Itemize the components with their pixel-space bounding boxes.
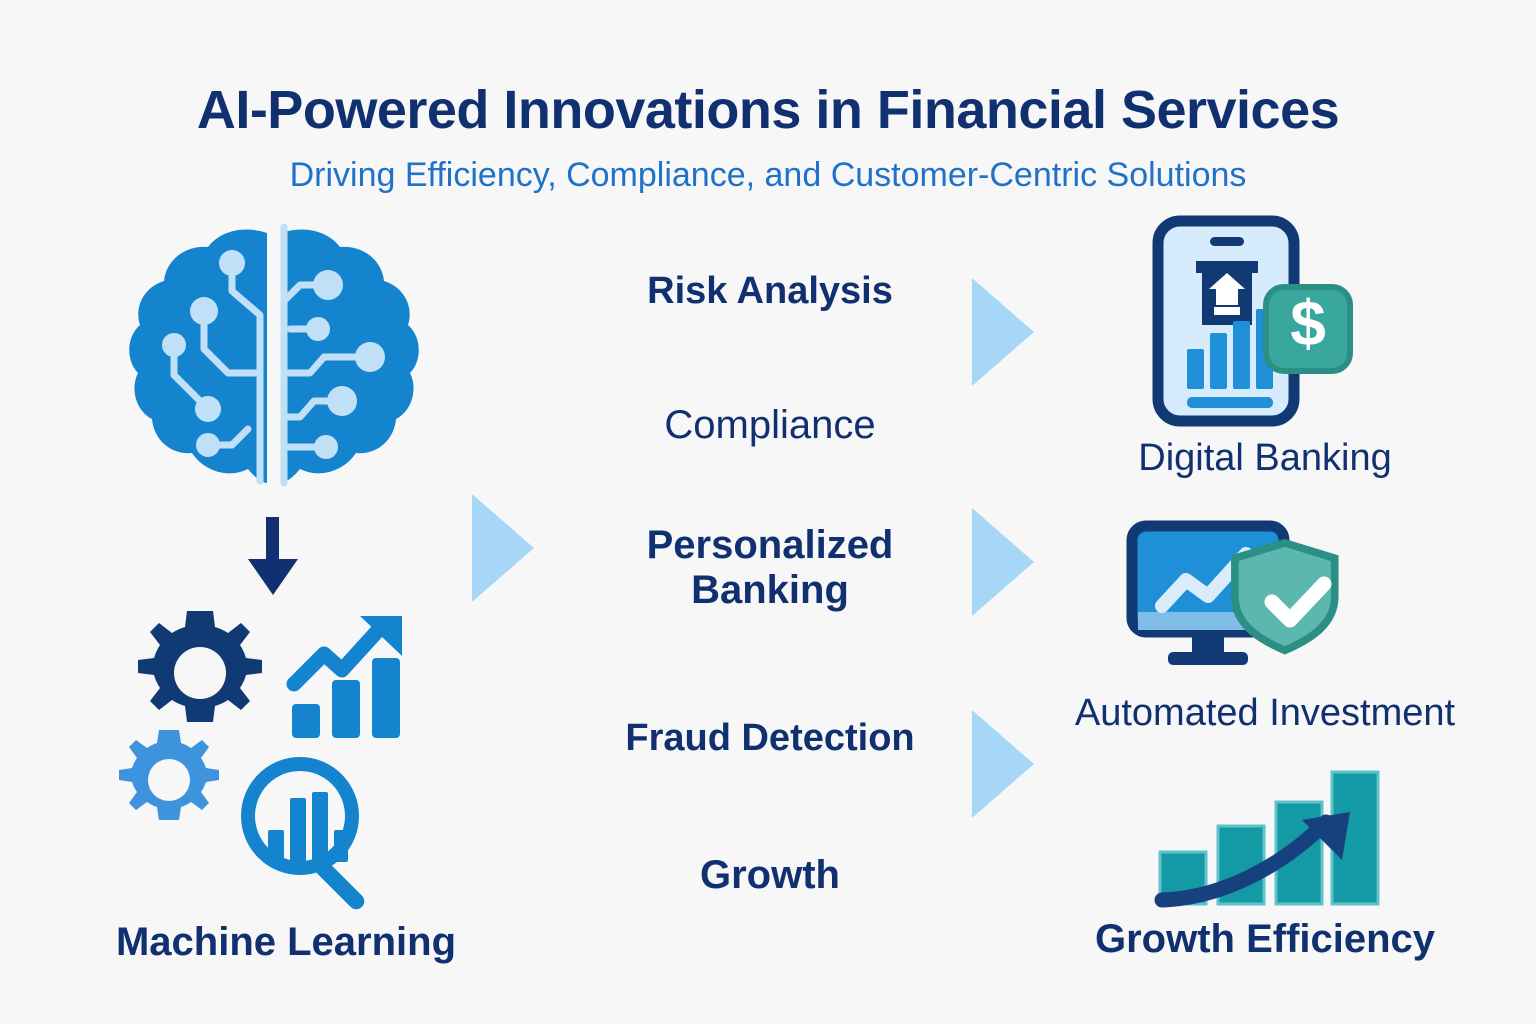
brain-circuit-icon (124, 215, 424, 505)
growth-efficiency-label: Growth Efficiency (1010, 917, 1520, 962)
middle-item-label: Compliance (664, 403, 875, 447)
page-title: AI-Powered Innovations in Financial Serv… (0, 82, 1536, 139)
infographic-canvas: AI-Powered Innovations in Financial Serv… (0, 0, 1536, 1024)
middle-item-label: Risk Analysis (647, 270, 893, 312)
monitor-shield-icon (1120, 520, 1370, 680)
gear-light-icon (114, 725, 224, 835)
middle-item-label: Fraud Detection (625, 717, 914, 759)
magnifier-bars-icon (234, 750, 394, 910)
growth-bars-arrow-icon (1150, 760, 1380, 910)
flow-arrow-left (472, 494, 534, 602)
svg-text:$: $ (1290, 287, 1326, 359)
page-subtitle: Driving Efficiency, Compliance, and Cust… (0, 156, 1536, 195)
middle-item-growth: Growth (470, 853, 1070, 898)
middle-item-compliance: Compliance (470, 403, 1070, 448)
automated-investment-label: Automated Investment (1015, 692, 1515, 735)
digital-banking-label: Digital Banking (1010, 437, 1520, 480)
left-column: Machine Learning (96, 205, 476, 995)
middle-item-label: Growth (700, 853, 840, 897)
down-arrow-icon (238, 517, 308, 597)
bar-chart-arrow-icon (286, 610, 416, 740)
mobile-banking-icon: $ (1140, 215, 1370, 435)
gear-dark-icon (132, 605, 268, 741)
right-column: $ Digital Banking Automated Investment (1020, 205, 1510, 995)
